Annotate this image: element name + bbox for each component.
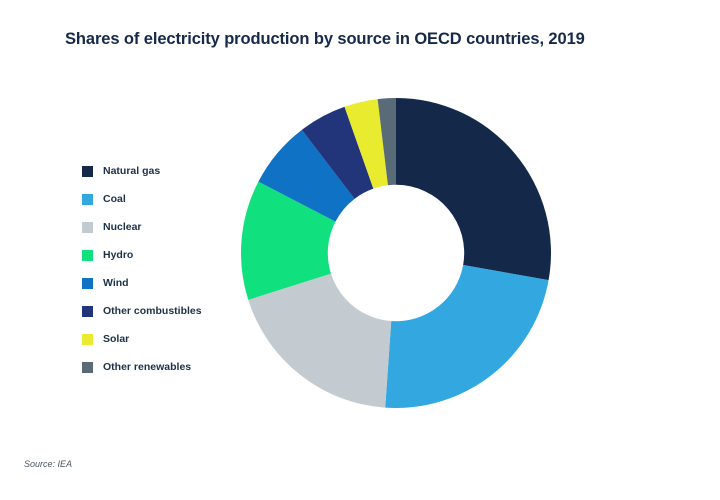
legend-color-swatch [82,250,93,261]
legend-color-swatch [82,334,93,345]
legend-color-swatch [82,166,93,177]
legend-item[interactable]: Solar [82,325,242,353]
legend-color-swatch [82,278,93,289]
legend-color-swatch [82,222,93,233]
legend-color-swatch [82,362,93,373]
legend-item[interactable]: Hydro [82,241,242,269]
legend-item[interactable]: Other renewables [82,353,242,381]
legend-item-label: Wind [103,277,129,289]
legend-item[interactable]: Wind [82,269,242,297]
legend-color-swatch [82,306,93,317]
legend-item-label: Other combustibles [103,305,202,317]
legend-item-label: Natural gas [103,165,160,177]
legend-item[interactable]: Natural gas [82,157,242,185]
donut-slice[interactable] [385,265,548,408]
chart-page: Shares of electricity production by sour… [0,0,720,500]
chart-legend: Natural gasCoalNuclearHydroWindOther com… [82,157,242,381]
donut-slice[interactable] [248,274,391,408]
donut-slice[interactable] [396,98,551,280]
donut-slice-group [241,98,551,408]
legend-item-label: Nuclear [103,221,142,233]
legend-item-label: Other renewables [103,361,191,373]
legend-item-label: Solar [103,333,129,345]
donut-chart [241,98,551,408]
legend-item-label: Coal [103,193,126,205]
legend-item-label: Hydro [103,249,133,261]
legend-item[interactable]: Other combustibles [82,297,242,325]
legend-item[interactable]: Nuclear [82,213,242,241]
donut-chart-svg [241,98,551,408]
legend-item[interactable]: Coal [82,185,242,213]
page-title: Shares of electricity production by sour… [65,30,685,50]
legend-color-swatch [82,194,93,205]
source-note: Source: IEA [24,459,72,469]
